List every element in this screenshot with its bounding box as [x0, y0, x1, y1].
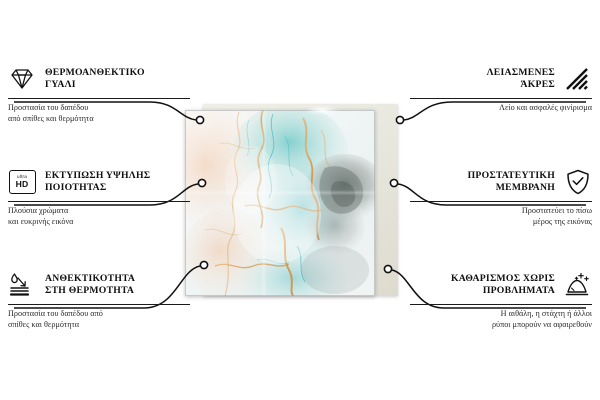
feature-description: Πλούσια χρώματα και ευκρινής εικόνα: [8, 206, 190, 227]
product-image-group: [185, 110, 390, 300]
feature-desc-line1: Πλούσια χρώματα: [8, 206, 190, 217]
feature-divider: [410, 98, 592, 99]
feature-desc-line2: σπίθες και θερμότητα: [8, 320, 190, 331]
feature-header: ΑΝΘΕΚΤΙΚΟΤΗΤΑ ΣΤΗ ΘΕΡΜΟΤΗΤΑ: [8, 270, 190, 300]
feature-divider: [8, 98, 190, 99]
feature-desc-line2: από σπίθες και θερμότητα: [8, 114, 190, 125]
feature-desc-line2: μέρος της εικόνας: [410, 217, 592, 228]
feature-title-line2: ΣΤΗ ΘΕΡΜΟΤΗΤΑ: [45, 285, 190, 297]
feature-title-line2: ΆΚΡΕΣ: [410, 79, 555, 91]
feature-desc-line2: και ευκρινής εικόνα: [8, 217, 190, 228]
feature-protective-membrane[interactable]: ΠΡΟΣΤΑΤΕΥΤΙΚΗ ΜΕΜΒΡΑΝΗ Προστατεύει το πί…: [410, 167, 592, 227]
feature-title-line2: ΠΡΟΒΛΗΜΑΤΑ: [410, 285, 555, 297]
feature-divider: [8, 304, 190, 305]
feature-heat-resistant-glass[interactable]: ΘΕΡΜΟΑΝΘΕΚΤΙΚΟ ΓΥΑΛΙ Προστασία του δαπέδ…: [8, 64, 190, 124]
diagonal-stripes-icon: [564, 65, 592, 93]
feature-desc-line1: Προστασία του δαπέδου από: [8, 309, 190, 320]
feature-header: ΘΕΡΜΟΑΝΘΕΚΤΙΚΟ ΓΥΑΛΙ: [8, 64, 190, 94]
feature-easy-cleaning[interactable]: ΚΑΘΑΡΙΣΜΟΣ ΧΩΡΙΣ ΠΡΟΒΛΗΜΑΤΑ Η αιθάλη, η …: [410, 270, 592, 330]
feature-title: ΠΡΟΣΤΑΤΕΥΤΙΚΗ ΜΕΜΒΡΑΝΗ: [410, 170, 555, 195]
feature-desc-line1: Η αιθάλη, η στάχτη ή άλλοι: [410, 309, 592, 320]
feature-title-line2: ΠΟΙΟΤΗΤΑΣ: [45, 182, 190, 194]
feature-desc-line1: Προστατεύει το πίσω: [410, 206, 592, 217]
feature-polished-edges[interactable]: ΛΕΙΑΣΜΕΝΕΣ ΆΚΡΕΣ Λείο και ασφαλές φινίρι…: [410, 64, 592, 114]
sparkle-wipe-icon: [564, 271, 592, 299]
feature-title: ΕΚΤΥΠΩΣΗ ΥΨΗΛΗΣ ΠΟΙΟΤΗΤΑΣ: [45, 170, 190, 195]
diamond-icon: [8, 65, 36, 93]
flame-shield-icon: [8, 271, 36, 299]
feature-desc-line1: Λείο και ασφαλές φινίρισμα: [410, 103, 592, 114]
feature-description: Προστατεύει το πίσω μέρος της εικόνας: [410, 206, 592, 227]
infographic-stage: ΘΕΡΜΟΑΝΘΕΚΤΙΚΟ ΓΥΑΛΙ Προστασία του δαπέδ…: [0, 0, 600, 400]
feature-header: ΠΡΟΣΤΑΤΕΥΤΙΚΗ ΜΕΜΒΡΑΝΗ: [410, 167, 592, 197]
feature-title: ΚΑΘΑΡΙΣΜΟΣ ΧΩΡΙΣ ΠΡΟΒΛΗΜΑΤΑ: [410, 273, 555, 298]
feature-divider: [410, 304, 592, 305]
feature-heat-durability[interactable]: ΑΝΘΕΚΤΙΚΟΤΗΤΑ ΣΤΗ ΘΕΡΜΟΤΗΤΑ Προστασία το…: [8, 270, 190, 330]
feature-divider: [410, 201, 592, 202]
feature-title-line2: ΜΕΜΒΡΑΝΗ: [410, 182, 555, 194]
feature-high-quality-print[interactable]: ultra HD ΕΚΤΥΠΩΣΗ ΥΨΗΛΗΣ ΠΟΙΟΤΗΤΑΣ Πλούσ…: [8, 167, 190, 227]
feature-header: ΛΕΙΑΣΜΕΝΕΣ ΆΚΡΕΣ: [410, 64, 592, 94]
feature-title-line1: ΘΕΡΜΟΑΝΘΕΚΤΙΚΟ: [45, 67, 145, 78]
product-image: [185, 110, 375, 296]
feature-description: Η αιθάλη, η στάχτη ή άλλοι ρύποι μπορούν…: [410, 309, 592, 330]
feature-title-line1: ΑΝΘΕΚΤΙΚΟΤΗΤΑ: [45, 273, 135, 284]
feature-desc-line2: ρύποι μπορούν να αφαιρεθούν: [410, 320, 592, 331]
feature-title: ΛΕΙΑΣΜΕΝΕΣ ΆΚΡΕΣ: [410, 67, 555, 92]
feature-header: ΚΑΘΑΡΙΣΜΟΣ ΧΩΡΙΣ ΠΡΟΒΛΗΜΑΤΑ: [410, 270, 592, 300]
feature-description: Προστασία του δαπέδου από σπίθες και θερ…: [8, 309, 190, 330]
feature-description: Προστασία του δαπέδου από σπίθες και θερ…: [8, 103, 190, 124]
feature-title-line2: ΓΥΑΛΙ: [45, 79, 190, 91]
ultra-hd-icon: ultra HD: [8, 168, 36, 196]
feature-title: ΑΝΘΕΚΤΙΚΟΤΗΤΑ ΣΤΗ ΘΕΡΜΟΤΗΤΑ: [45, 273, 190, 298]
feature-title: ΘΕΡΜΟΑΝΘΕΚΤΙΚΟ ΓΥΑΛΙ: [45, 67, 190, 92]
feature-divider: [8, 201, 190, 202]
feature-title-line1: ΚΑΘΑΡΙΣΜΟΣ ΧΩΡΙΣ: [451, 273, 555, 284]
feature-title-line1: ΛΕΙΑΣΜΕΝΕΣ: [487, 67, 555, 78]
feature-desc-line1: Προστασία του δαπέδου: [8, 103, 190, 114]
feature-header: ultra HD ΕΚΤΥΠΩΣΗ ΥΨΗΛΗΣ ΠΟΙΟΤΗΤΑΣ: [8, 167, 190, 197]
feature-description: Λείο και ασφαλές φινίρισμα: [410, 103, 592, 114]
feature-title-line1: ΕΚΤΥΠΩΣΗ ΥΨΗΛΗΣ: [45, 170, 150, 181]
feature-title-line1: ΠΡΟΣΤΑΤΕΥΤΙΚΗ: [468, 170, 555, 181]
shield-check-icon: [564, 168, 592, 196]
